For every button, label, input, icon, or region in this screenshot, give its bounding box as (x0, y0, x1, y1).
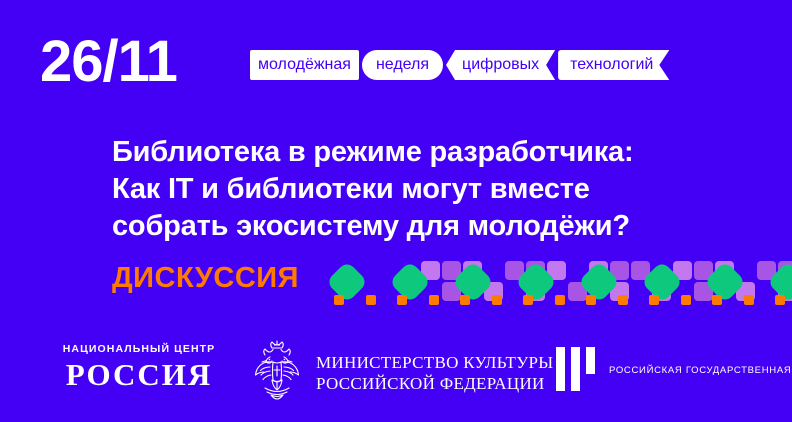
minkult-line-1: МИНИСТЕРСТВО КУЛЬТУРЫ (316, 352, 553, 373)
pattern-dot (775, 295, 785, 305)
pattern-dot (460, 295, 470, 305)
minkult-line-2: РОССИЙСКОЙ ФЕДЕРАЦИИ (316, 373, 553, 394)
format-label: ДИСКУССИЯ (112, 261, 299, 295)
headline-line-2: Как IT и библиотеки могут вместе (112, 171, 633, 208)
pattern-dot (429, 295, 439, 305)
pattern-dot (586, 295, 596, 305)
bar-two (571, 347, 580, 391)
minkult-text: МИНИСТЕРСТВО КУЛЬТУРЫ РОССИЙСКОЙ ФЕДЕРАЦ… (316, 352, 553, 394)
decorative-pattern-strip (325, 255, 792, 310)
bar-three (586, 347, 595, 374)
tag-tsifrovyh: цифровых (446, 50, 555, 80)
rgbm-line-1: РОССИЙСКАЯ ГОСУДАРСТВЕННАЯ (609, 365, 791, 376)
ncr-wordmark: РОССИЯ (44, 358, 234, 392)
logo-national-centre-russia: НАЦИОНАЛЬНЫЙ ЦЕНТР РОССИЯ (44, 343, 234, 392)
pattern-dot (492, 295, 502, 305)
logo-ministry-of-culture: МИНИСТЕРСТВО КУЛЬТУРЫ РОССИЙСКОЙ ФЕДЕРАЦ… (248, 338, 553, 407)
pattern-dot (744, 295, 754, 305)
three-bars-icon (556, 347, 601, 391)
headline: Библиотека в режиме разработчика: Как IT… (112, 134, 633, 245)
footer-logos: НАЦИОНАЛЬНЫЙ ЦЕНТР РОССИЯ (0, 330, 792, 410)
rgbm-text: РОССИЙСКАЯ ГОСУДАРСТВЕННАЯ БИБЛИОТЕКА ДЛ… (609, 360, 792, 378)
event-banner: 26/11 молодёжная неделя цифровых техноло… (0, 0, 792, 422)
ncr-tagline: НАЦИОНАЛЬНЫЙ ЦЕНТР (44, 343, 234, 356)
pattern-dot (334, 295, 344, 305)
tag-nedelya: неделя (362, 50, 443, 80)
tag-tehnologiy: технологий (558, 50, 669, 80)
headline-line-1: Библиотека в режиме разработчика: (112, 134, 633, 171)
pattern-dot (397, 295, 407, 305)
tag-molodezhnaya: молодёжная (250, 50, 359, 80)
pattern-dot (618, 295, 628, 305)
headline-line-3: собрать экосистему для молодёжи? (112, 208, 633, 245)
pattern-diamond (326, 261, 368, 303)
event-date: 26/11 (40, 33, 177, 91)
pattern-dot (555, 295, 565, 305)
pattern-dot (366, 295, 376, 305)
double-headed-eagle-icon (248, 338, 306, 407)
pattern-dot (523, 295, 533, 305)
bar-one (556, 347, 565, 391)
logo-russian-state-library-for-youth: РОССИЙСКАЯ ГОСУДАРСТВЕННАЯ БИБЛИОТЕКА ДЛ… (556, 347, 792, 391)
pattern-dot (681, 295, 691, 305)
tag-row: молодёжная неделя цифровых технологий (250, 50, 669, 80)
pattern-dot (649, 295, 659, 305)
pattern-dot (712, 295, 722, 305)
